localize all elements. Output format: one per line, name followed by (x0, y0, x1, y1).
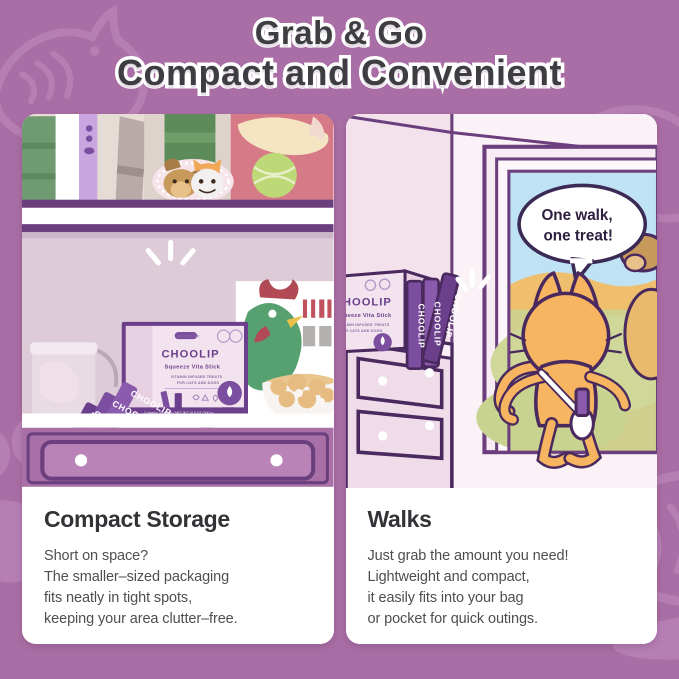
speech-line-1: One walk, (541, 207, 612, 224)
product-tagline: Squeeze Vita Stick (165, 365, 221, 371)
card-body-compact-storage: Short on space? The smaller–sized packag… (44, 546, 314, 630)
cabinet-stick-label-2: CHOOLIP (432, 302, 442, 347)
speech-line-2: one treat! (543, 227, 612, 244)
box-subline-2: FOR CATS AND DOGS (346, 329, 383, 333)
product-badge: NO STICKY (178, 335, 200, 339)
feature-cards: NO STICKY CHOOLIP Squeeze Vita Stick VIT… (0, 114, 679, 644)
illustration-fridge-shelf: NO STICKY CHOOLIP Squeeze Vita Stick VIT… (22, 114, 334, 488)
pet-photo-magnet (152, 159, 233, 204)
box-subline-1: VITAMIN INFUSED TREATS (346, 323, 390, 327)
box-tagline: Squeeze Vita Stick (346, 313, 392, 319)
card-compact-storage[interactable]: NO STICKY CHOOLIP Squeeze Vita Stick VIT… (22, 114, 334, 644)
card-walks[interactable]: One walk, one treat! (346, 114, 658, 644)
product-subline-2: FOR CATS AND DOGS (177, 381, 220, 385)
card-text-compact-storage: Compact Storage Short on space? The smal… (22, 488, 334, 644)
cabinet-stick-label-1: CHOOLIP (416, 304, 426, 349)
title-line-2: Compact and Convenient (117, 52, 562, 94)
card-heading-walks: Walks (368, 506, 638, 533)
title-line-1: Grab & Go (255, 16, 425, 50)
illustration-hallway-door: One walk, one treat! (346, 114, 658, 488)
product-brand: CHOOLIP (161, 348, 219, 360)
card-text-walks: Walks Just grab the amount you need! Lig… (346, 488, 658, 644)
card-heading-compact-storage: Compact Storage (44, 506, 314, 533)
header: Grab & Go Compact and Convenient (0, 0, 679, 110)
box-brand: CHOOLIP (346, 297, 392, 309)
product-subline-1: VITAMIN INFUSED TREATS (171, 375, 223, 379)
card-body-walks: Just grab the amount you need! Lightweig… (368, 546, 638, 630)
